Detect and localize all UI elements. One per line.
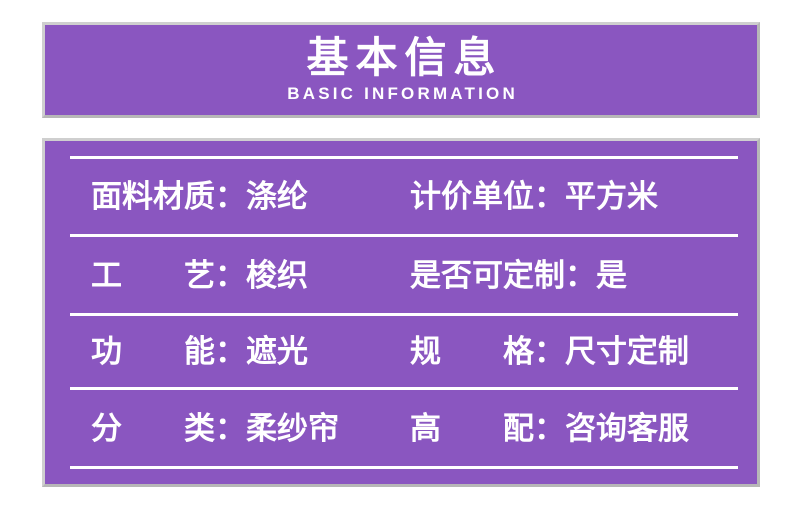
divider-line	[70, 466, 738, 469]
page-subtitle: BASIC INFORMATION	[284, 84, 518, 104]
info-row: 功 能：遮光 规 格：尺寸定制	[70, 316, 738, 387]
header-banner: 基本信息 BASIC INFORMATION	[42, 22, 760, 118]
spec-function: 功 能：遮光	[70, 336, 410, 367]
spec-specification: 规 格：尺寸定制	[410, 336, 738, 367]
spec-upgrade: 高 配：咨询客服	[410, 413, 738, 444]
page-title: 基本信息	[299, 36, 502, 80]
spec-customizable: 是否可定制：是	[410, 260, 738, 291]
spec-category: 分 类：柔纱帘	[70, 413, 410, 444]
info-panel: 面料材质：涤纶 计价单位：平方米 工 艺：梭织 是否可定制：是 功 能：遮光 规…	[42, 138, 760, 487]
info-row: 工 艺：梭织 是否可定制：是	[70, 237, 738, 313]
spec-fabric-material: 面料材质：涤纶	[70, 181, 410, 212]
info-rows-wrap: 面料材质：涤纶 计价单位：平方米 工 艺：梭织 是否可定制：是 功 能：遮光 规…	[70, 156, 738, 472]
spec-craft: 工 艺：梭织	[70, 260, 410, 291]
info-row: 分 类：柔纱帘 高 配：咨询客服	[70, 390, 738, 466]
product-info-graphic: 基本信息 BASIC INFORMATION 面料材质：涤纶 计价单位：平方米 …	[0, 0, 800, 512]
spec-pricing-unit: 计价单位：平方米	[410, 181, 738, 212]
info-row: 面料材质：涤纶 计价单位：平方米	[70, 159, 738, 234]
